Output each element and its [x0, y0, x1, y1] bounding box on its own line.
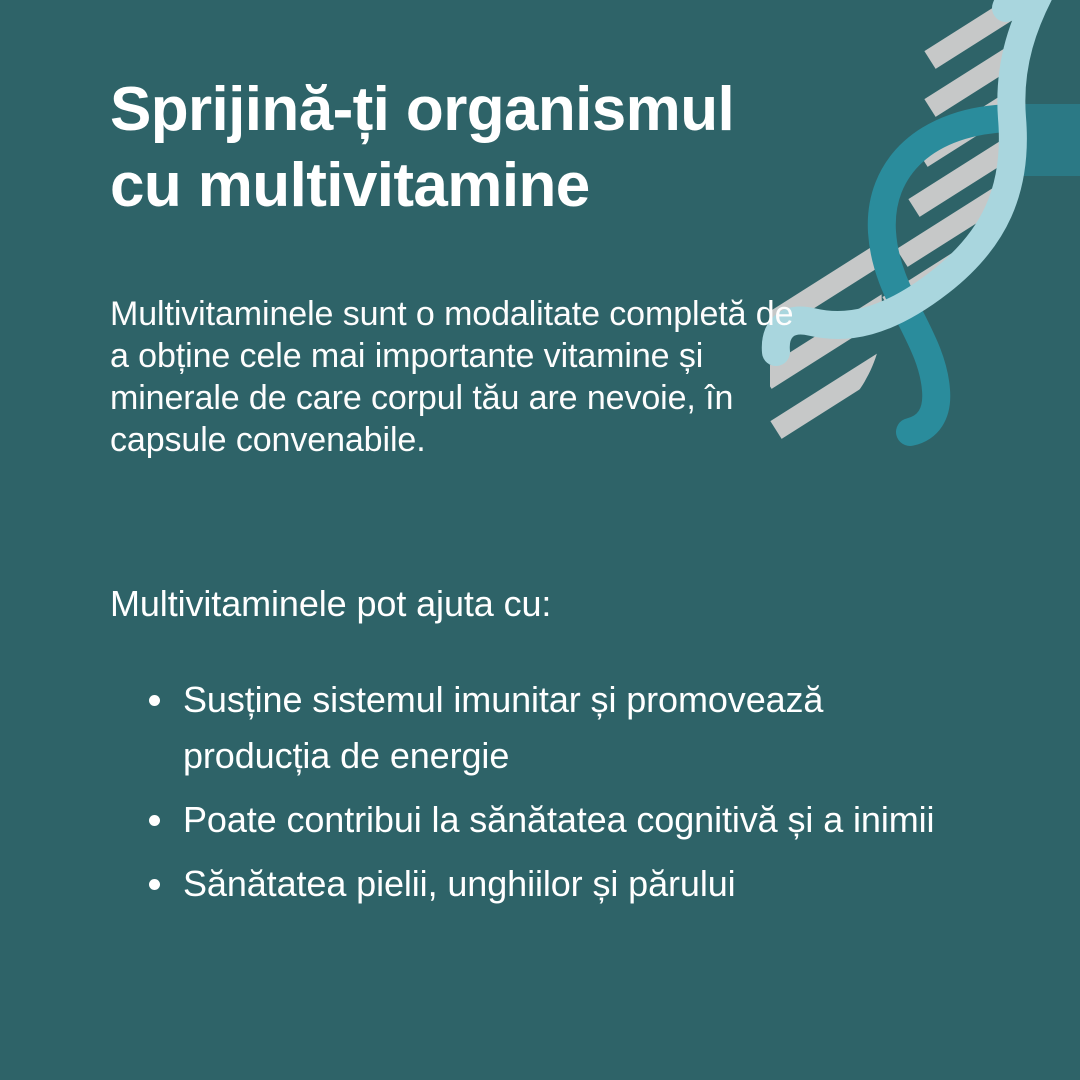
list-item-label: Susține sistemul imunitar și promovează … [183, 672, 956, 784]
content-column: Sprijină-ți organismul cu multivitamine … [110, 0, 970, 1080]
bullet-icon [149, 879, 160, 890]
bullet-icon [149, 695, 160, 706]
list-item: Poate contribui la sănătatea cognitivă ș… [146, 792, 956, 848]
page-title: Sprijină-ți organismul cu multivitamine [110, 72, 900, 223]
benefits-list: Susține sistemul imunitar și promovează … [146, 672, 956, 913]
page-title-line-1: Sprijină-ți organismul [110, 72, 900, 148]
dna-overlay-band [1004, 104, 1080, 176]
bullet-icon [149, 815, 160, 826]
infographic-canvas: Sprijină-ți organismul cu multivitamine … [0, 0, 1080, 1080]
dna-strand-light-hook [1006, 0, 1062, 8]
list-item-label: Sănătatea pielii, unghiilor și părului [183, 856, 956, 912]
list-item: Sănătatea pielii, unghiilor și părului [146, 856, 956, 912]
lead-paragraph: Multivitaminele sunt o modalitate comple… [110, 293, 810, 462]
benefits-subheading: Multivitaminele pot ajuta cu: [110, 582, 870, 625]
list-item: Susține sistemul imunitar și promovează … [146, 672, 956, 784]
list-item-label: Poate contribui la sănătatea cognitivă ș… [183, 792, 956, 848]
page-title-line-2: cu multivitamine [110, 148, 900, 224]
